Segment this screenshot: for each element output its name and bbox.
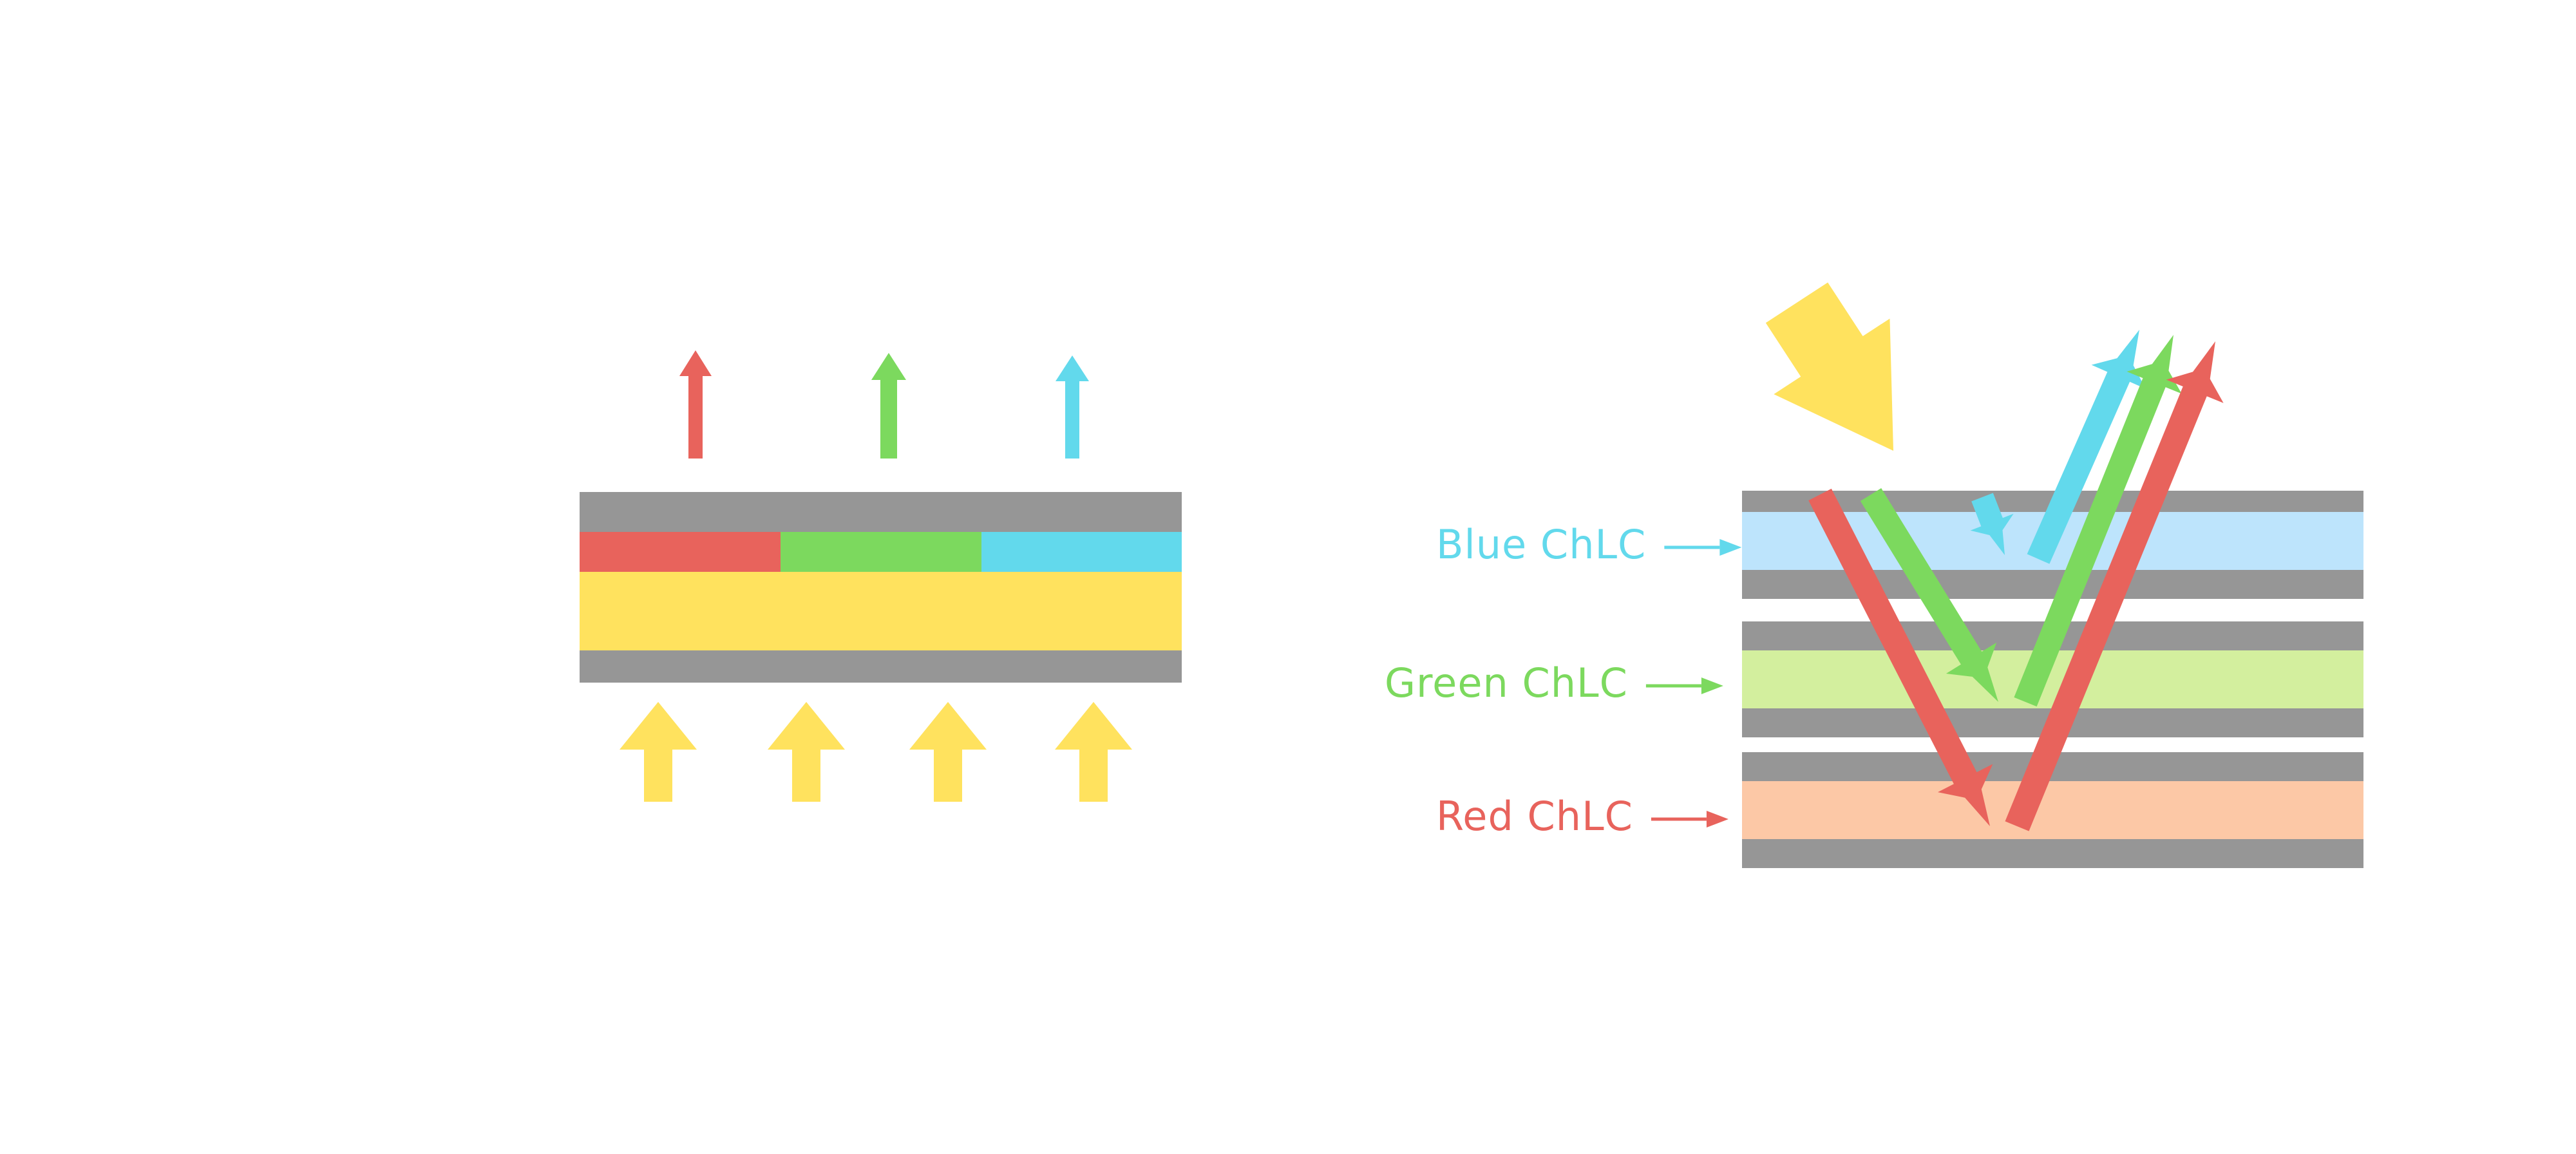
- layer-top-electrode: [580, 492, 1182, 532]
- emitted-blue-arrow: [1056, 355, 1089, 459]
- layer-color-filter-red: [580, 532, 781, 572]
- red-chlc-cell-label-group: Red ChLC: [1436, 793, 1728, 840]
- chlc-labels: Blue ChLCGreen ChLCRed ChLC: [1385, 521, 1741, 840]
- green-chlc-cell-label-arrow: [1646, 677, 1723, 694]
- backlight-arrow-3: [909, 702, 987, 802]
- green-chlc-cell-label-group: Green ChLC: [1385, 659, 1723, 706]
- blue-chlc-cell-label: Blue ChLC: [1436, 521, 1646, 568]
- layer-bottom-electrode: [580, 650, 1182, 683]
- blue-chlc-cell-bottom-electrode: [1742, 570, 2363, 599]
- emitted-red-arrow: [679, 350, 712, 459]
- red-chlc-cell-label: Red ChLC: [1436, 793, 1633, 840]
- green-chlc-cell-label: Green ChLC: [1385, 659, 1628, 706]
- blue-chlc-cell-label-arrow-shaft: [1664, 546, 1719, 549]
- layer-color-filter-green: [781, 532, 981, 572]
- incident-white-light-arrow: [1766, 283, 1893, 451]
- chlc-display-diagram: Blue ChLCGreen ChLCRed ChLC: [0, 0, 2576, 1154]
- backlight-arrow-1: [620, 702, 697, 802]
- backlight-arrows: [620, 702, 1132, 802]
- backlight-arrow-2: [768, 702, 845, 802]
- red-chlc-cell-lc-layer: [1742, 781, 2363, 839]
- diagram-canvas: Blue ChLCGreen ChLCRed ChLC: [0, 0, 2576, 1154]
- emitted-light-arrows: [679, 350, 1089, 459]
- blue-chlc-cell-label-arrow: [1664, 539, 1741, 556]
- red-chlc-cell-label-arrow-head: [1707, 811, 1728, 828]
- green-chlc-cell-label-arrow-head: [1701, 677, 1723, 694]
- layer-backlight-layer: [580, 572, 1182, 650]
- emission-stack: [580, 492, 1182, 683]
- red-chlc-cell-label-arrow-shaft: [1651, 818, 1707, 821]
- backlight-arrow-4: [1055, 702, 1132, 802]
- red-chlc-cell-bottom-electrode: [1742, 839, 2363, 868]
- right-reflection-panel: Blue ChLCGreen ChLCRed ChLC: [1385, 283, 2363, 868]
- left-emission-panel: [580, 350, 1182, 802]
- green-chlc-cell-label-arrow-shaft: [1646, 685, 1701, 688]
- blue-chlc-cell-label-arrow-head: [1719, 539, 1741, 556]
- red-chlc-cell-label-arrow: [1651, 811, 1728, 828]
- layer-color-filter-blue: [981, 532, 1182, 572]
- emitted-green-arrow: [871, 353, 906, 459]
- blue-chlc-cell-label-group: Blue ChLC: [1436, 521, 1741, 568]
